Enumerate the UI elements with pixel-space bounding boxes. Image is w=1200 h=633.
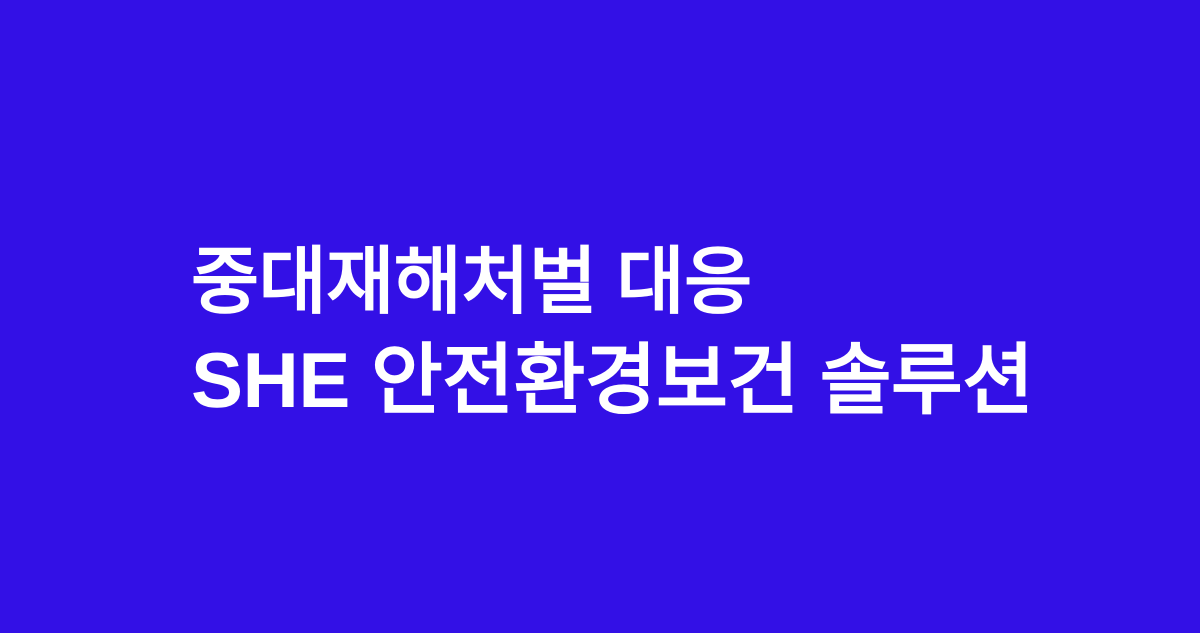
headline-block: 중대재해처벌 대응 SHE 안전환경보건 솔루션 [191,233,1151,429]
headline-line-2: SHE 안전환경보건 솔루션 [191,331,1151,429]
promo-banner: 중대재해처벌 대응 SHE 안전환경보건 솔루션 [0,0,1200,633]
headline-line-1: 중대재해처벌 대응 [191,233,1151,331]
